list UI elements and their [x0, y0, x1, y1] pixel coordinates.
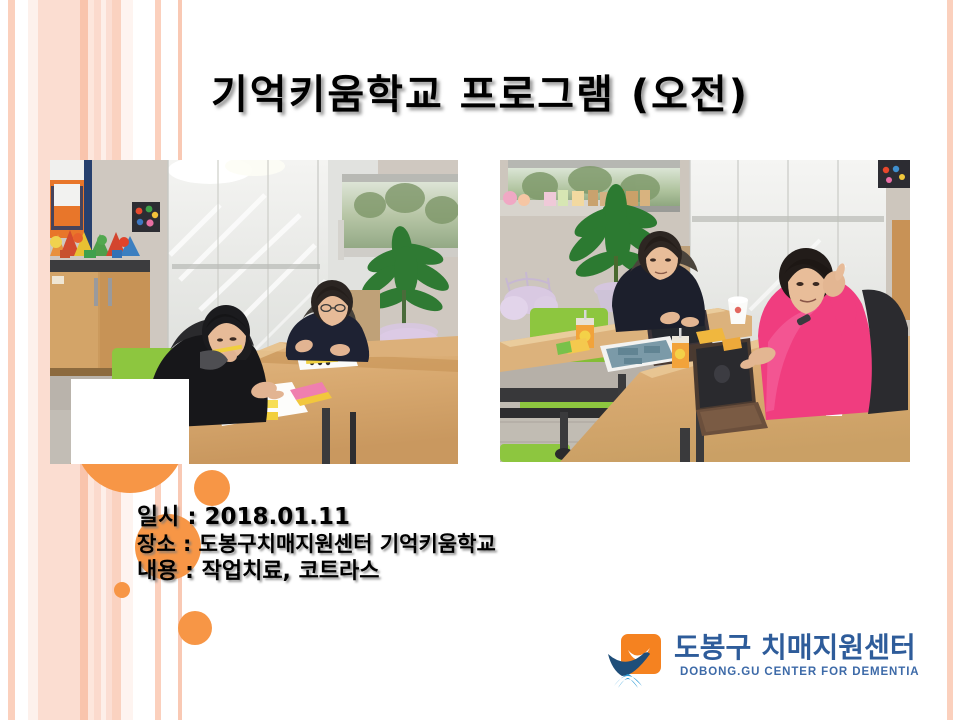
decorative-circle-tiny	[114, 582, 130, 598]
decorative-circle-small-a	[194, 470, 230, 506]
slide-canvas: 기억키움학교 프로그램 (오전)	[0, 0, 960, 720]
logo-text-group: 도봉구 치매지원센터 DOBONG.GU CENTER FOR DEMENTIA	[674, 632, 920, 678]
slide-title: 기억키움학교 프로그램 (오전)	[0, 62, 960, 120]
circle-mask	[71, 379, 189, 464]
decorative-circle-small-b	[178, 611, 212, 645]
info-line-content: 내용 : 작업치료, 코트라스	[137, 558, 496, 585]
logo-english-name: DOBONG.GU CENTER FOR DEMENTIA	[680, 666, 920, 678]
info-line-place: 장소 : 도봉구치매지원센터 기억키움학교	[137, 531, 496, 558]
photo-cotras-tablet-session	[500, 160, 910, 462]
logo-mark-icon	[608, 632, 666, 690]
info-line-date: 일시 : 2018.01.11	[137, 504, 496, 531]
photo-right-graphic	[500, 160, 910, 462]
logo-korean-name: 도봉구 치매지원센터	[674, 632, 920, 664]
organization-logo: 도봉구 치매지원센터 DOBONG.GU CENTER FOR DEMENTIA	[608, 630, 914, 692]
slide-info-block: 일시 : 2018.01.11 장소 : 도봉구치매지원센터 기억키움학교 내용…	[137, 504, 496, 585]
